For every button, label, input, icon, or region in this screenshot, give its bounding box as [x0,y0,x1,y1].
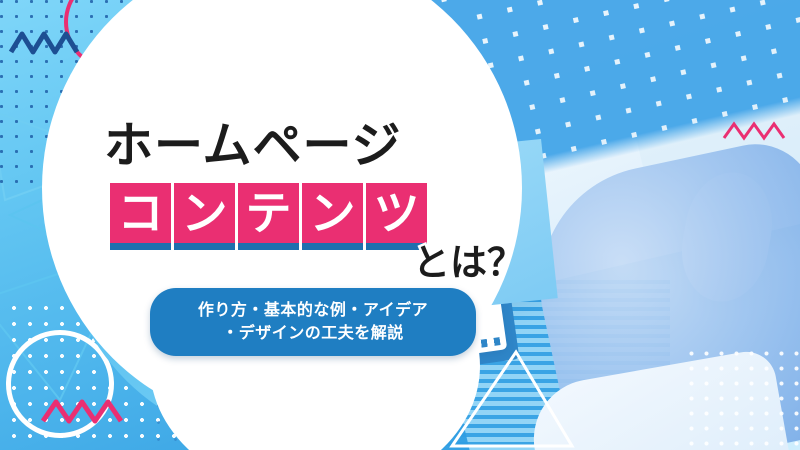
boxed-char-5: ツ [366,183,427,243]
text-block: ホームページ コ ン テ ン ツ とは？ 作り方・基本的な例・アイデア ・デザイ… [0,0,800,450]
title-line-1: ホームページ [104,121,402,170]
subtitle-line-1: 作り方・基本的な例・アイデア [164,298,462,321]
banner-image: ホームページ コ ン テ ン ツ とは？ 作り方・基本的な例・アイデア ・デザイ… [0,0,800,450]
boxed-char-3: テ [238,183,299,243]
boxed-char-2: ン [174,183,235,243]
boxed-word-row: コ ン テ ン ツ [110,183,427,243]
boxed-char-1: コ [110,183,171,243]
title-suffix: とは？ [413,244,524,281]
subtitle-line-2: ・デザインの工夫を解説 [164,321,462,344]
boxed-char-4: ン [302,183,363,243]
subtitle-pill: 作り方・基本的な例・アイデア ・デザインの工夫を解説 [150,288,476,356]
